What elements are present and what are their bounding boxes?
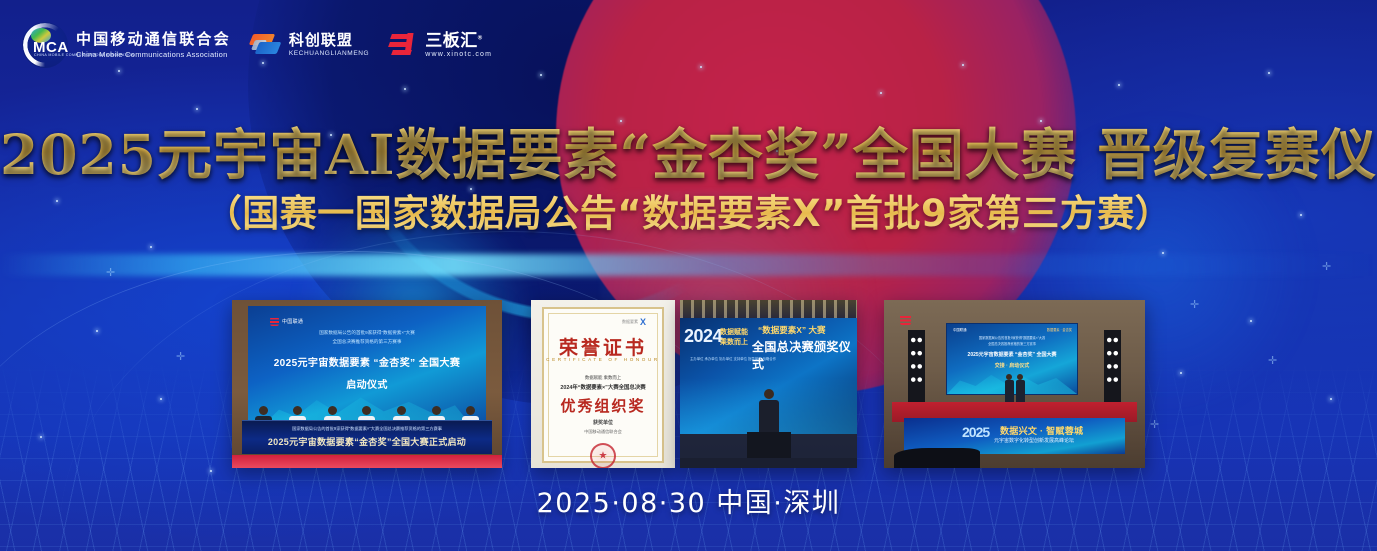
cmca-globe-crescent-icon: MCA CHINA MOBILE COMMUNICATIONS ASSOCIAT… [22, 22, 68, 68]
certificate-brand: 数据要素 X [622, 317, 646, 327]
hall-floor [680, 458, 857, 468]
speaker-person [759, 389, 779, 434]
photo-wide-stage: 中国联通 数据要素 · 金杏奖 国家数据局公告的首批9家获得“数据要素×”大赛 … [884, 300, 1145, 468]
speaker-podium [747, 432, 791, 460]
logo-sanbanhui: 三板汇® www.xinotc.com [389, 32, 492, 59]
light-truss-left [908, 330, 925, 406]
photo-launch-ceremony: 中国联通 国家数据局公告的首批9家获得“数据要素×”大赛 全国总决赛推荐资格的第… [232, 300, 502, 468]
photo-honor-certificate: 数据要素 X 荣誉证书 CERTIFICATE OF HONOUR 数据赋能 乘… [531, 300, 675, 468]
award-detail-line: 主办单位 承办单位 协办单位 支持单位 指导单位 战略合作 [690, 356, 851, 362]
red-official-seal-icon [590, 443, 616, 468]
unicom-mark-icon [900, 314, 911, 325]
kechuang-name-en: KECHUANGLIANMENG [289, 50, 369, 57]
screen-line-2: 全国总决赛推荐资格的第三方赛事 [248, 339, 486, 345]
certificate-brand-mark: X [640, 317, 646, 327]
venue-screen-line-1: 国家数据局公告的首批9家获得“数据要素×”大赛 [947, 335, 1077, 340]
light-truss-right [1104, 330, 1121, 406]
kechuang-wordmark: 科创联盟 KECHUANGLIANMENG [289, 33, 369, 58]
certificate-award: 优秀组织奖 [544, 395, 662, 416]
floor-year: 2025 [962, 424, 989, 440]
certificate-unit: 中国移动通信联合会 [544, 429, 662, 435]
award-event-name: “数据要素X” 大赛 [758, 324, 826, 336]
kechuang-cube-icon [251, 31, 281, 59]
certificate-line-1: 数据赋能 乘数而上 [544, 375, 662, 381]
page-title: 2025元宇宙AI数据要素“金杏奖”全国大赛 晋级复赛仪式 [0, 110, 1377, 190]
podium-title: 2025元宇宙数据要素“金杏奖”全国大赛正式启动 [242, 435, 492, 448]
award-slogan-1: 数据赋能 [720, 327, 748, 337]
venue-screen-corner: 数据要素 · 金杏奖 [1047, 327, 1072, 332]
page-subtitle: （国赛一国家数据局公告“数据要素X”首批9家第三方赛） [0, 183, 1377, 237]
floor-cover-object [894, 448, 980, 468]
ceiling-lights [680, 300, 857, 318]
venue-screen-brand: 中国联通 [953, 327, 967, 332]
certificate-line-2: 2024年“数据要素×”大赛全国总决赛 [544, 383, 662, 391]
unicom-logo: 中国联通 [270, 317, 303, 326]
floor-title: 数据兴文 · 智赋蓉城 [1000, 424, 1083, 437]
photo-strip: 中国联通 国家数据局公告的首批9家获得“数据要素×”大赛 全国总决赛推荐资格的第… [0, 300, 1377, 472]
certificate-title: 荣誉证书 [544, 333, 662, 360]
cmca-mark-subtext: CHINA MOBILE COMMUNICATIONS ASSOCIATION [34, 53, 135, 57]
podium-line-1: 国家数据局公告的首批9家获得“数据要素×”大赛全国总决赛推荐资格的第三方赛事 [242, 426, 492, 432]
event-poster: ✛ ✛ ✛ ✛ ✛ ✛ MCA CHINA MOBILE COMMUNICATI… [0, 0, 1377, 551]
sanbanhui-name-cn-text: 三板汇 [425, 31, 478, 50]
logo-kechuanglianmeng: 科创联盟 KECHUANGLIANMENG [251, 31, 369, 59]
certificate-brand-small: 数据要素 [622, 319, 638, 325]
screen-subtitle: 启动仪式 [248, 376, 486, 391]
screen-line-1: 国家数据局公告的首批9家获得“数据要素×”大赛 [248, 330, 486, 336]
sanbanhui-name-cn: 三板汇® [425, 32, 492, 51]
logo-cmca: MCA CHINA MOBILE COMMUNICATIONS ASSOCIAT… [22, 22, 231, 68]
venue-screen-line-2: 全国总决赛推荐资格的第三方赛事 [947, 341, 1077, 346]
venue-screen-title: 2025元宇宙数据要素 “金杏奖” 全国大赛 [947, 351, 1077, 358]
floor-subtitle: 元宇宙数字化转型创新发展高峰论坛 [994, 437, 1074, 444]
award-slogan-2: 乘数而上 [720, 337, 748, 347]
stage-people-pair [1005, 380, 1025, 402]
sanbanhui-wordmark: 三板汇® www.xinotc.com [425, 32, 492, 59]
venue-screen-subtitle: 交接 · 启动仪式 [947, 362, 1077, 369]
cmca-name-cn: 中国移动通信联合会 [76, 31, 231, 48]
red-stage-base [232, 455, 502, 468]
sanbanhui-website: www.xinotc.com [425, 51, 492, 58]
registered-mark: ® [478, 35, 483, 41]
sponsor-logo-bar: MCA CHINA MOBILE COMMUNICATIONS ASSOCIAT… [22, 22, 492, 68]
sanbanhui-stripes-icon [389, 32, 417, 58]
stage-podium-banner: 国家数据局公告的首批9家获得“数据要素×”大赛全国总决赛推荐资格的第三方赛事 2… [242, 420, 492, 454]
certificate-unit-label: 获奖单位 [544, 419, 662, 426]
award-year: 2024 [684, 326, 722, 347]
unicom-mark-icon [270, 317, 279, 326]
certificate-pinyin: CERTIFICATE OF HONOUR [544, 357, 662, 362]
photo-award-ceremony: 2024 数据赋能 乘数而上 “数据要素X” 大赛 全国总决赛颁奖仪式 主办单位… [680, 300, 857, 468]
unicom-brand-text: 中国联通 [282, 318, 303, 325]
award-title: 全国总决赛颁奖仪式 [752, 338, 857, 372]
screen-title: 2025元宇宙数据要素 “金杏奖” 全国大赛 [248, 354, 486, 369]
certificate-paper: 数据要素 X 荣誉证书 CERTIFICATE OF HONOUR 数据赋能 乘… [542, 307, 664, 463]
kechuang-name-cn: 科创联盟 [289, 33, 369, 50]
event-date-location: 2025·08·30 中国·深圳 [0, 481, 1377, 520]
light-streak [0, 254, 1377, 276]
